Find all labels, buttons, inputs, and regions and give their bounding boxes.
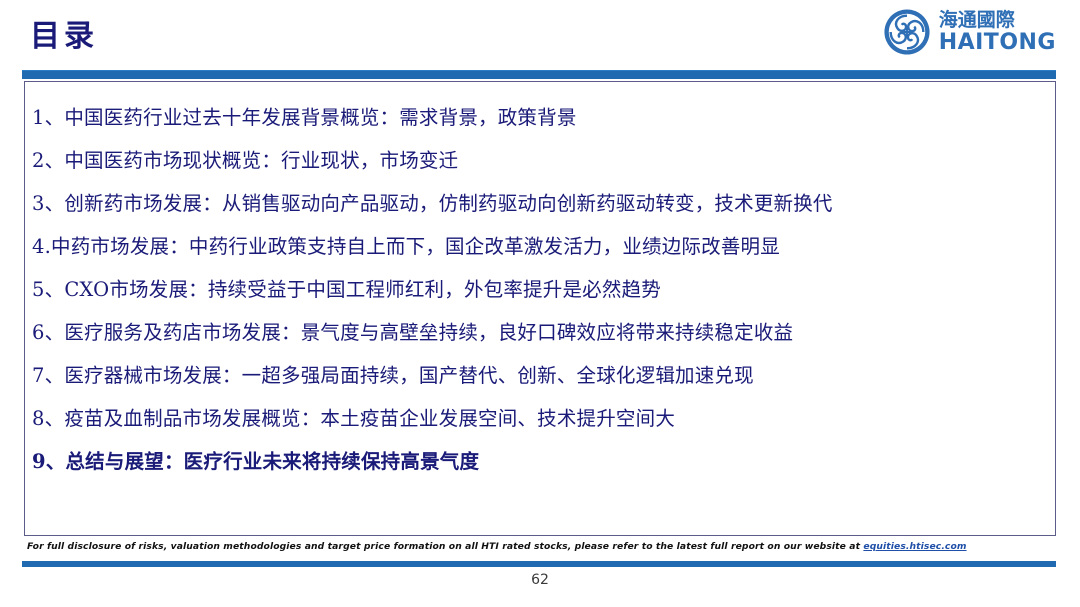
toc-item-9[interactable]: 9、总结与展望：医疗行业未来将持续保持高景气度 (32, 440, 1052, 483)
toc-item-2[interactable]: 2、中国医药市场现状概览：行业现状，市场变迁 (32, 139, 1052, 182)
toc-item-marker: 1、 (32, 106, 64, 129)
toc-item-marker: 3、 (32, 192, 64, 215)
logo-chinese-name: 海通國際 (939, 11, 1056, 30)
footer-accent-rule (22, 561, 1056, 567)
toc-item-3[interactable]: 3、创新药市场发展：从销售驱动向产品驱动，仿制药驱动向创新药驱动转变，技术更新换… (32, 182, 1052, 225)
toc-item-label: 疫苗及血制品市场发展概览：本土疫苗企业发展空间、技术提升空间大 (64, 407, 675, 430)
table-of-contents-list: 1、中国医药行业过去十年发展背景概览：需求背景，政策背景2、中国医药市场现状概览… (32, 96, 1052, 483)
disclosure-text: For full disclosure of risks, valuation … (27, 541, 863, 552)
logo-english-name: HAITONG (939, 32, 1056, 54)
page-title: 目录 (30, 22, 98, 52)
toc-item-4[interactable]: 4.中药市场发展：中药行业政策支持自上而下，国企改革激发活力，业绩边际改善明显 (32, 225, 1052, 268)
toc-item-label: 中国医药行业过去十年发展背景概览：需求背景，政策背景 (64, 106, 576, 129)
page-number: 62 (0, 572, 1080, 588)
toc-item-marker: 8、 (32, 407, 64, 430)
toc-item-marker: 7、 (32, 364, 64, 387)
haitong-logo: 海通國際 HAITONG (883, 6, 1056, 58)
toc-item-marker: 2、 (32, 149, 64, 172)
title-accent-rule (22, 70, 1056, 79)
toc-item-label: 医疗器械市场发展：一超多强局面持续，国产替代、创新、全球化逻辑加速兑现 (64, 364, 754, 387)
toc-item-8[interactable]: 8、疫苗及血制品市场发展概览：本土疫苗企业发展空间、技术提升空间大 (32, 397, 1052, 440)
presentation-slide: 目录 海通國際 HAITONG (0, 0, 1080, 607)
toc-item-6[interactable]: 6、医疗服务及药店市场发展：景气度与高壁垒持续，良好口碑效应将带来持续稳定收益 (32, 311, 1052, 354)
toc-item-label: 中国医药市场现状概览：行业现状，市场变迁 (64, 149, 458, 172)
haitong-circular-emblem-icon (883, 8, 931, 56)
toc-item-label: 总结与展望：医疗行业未来将持续保持高景气度 (65, 450, 479, 473)
toc-item-label: 创新药市场发展：从销售驱动向产品驱动，仿制药驱动向创新药驱动转变，技术更新换代 (64, 192, 832, 215)
toc-item-label: 中药市场发展：中药行业政策支持自上而下，国企改革激发活力，业绩边际改善明显 (51, 235, 780, 258)
logo-wordmark: 海通國際 HAITONG (939, 11, 1056, 54)
disclosure-footer: For full disclosure of risks, valuation … (27, 541, 1047, 552)
toc-item-marker: 4. (32, 235, 51, 258)
toc-item-marker: 5、 (32, 278, 64, 301)
disclosure-link[interactable]: equities.htisec.com (863, 541, 966, 552)
toc-item-1[interactable]: 1、中国医药行业过去十年发展背景概览：需求背景，政策背景 (32, 96, 1052, 139)
toc-item-5[interactable]: 5、CXO市场发展：持续受益于中国工程师红利，外包率提升是必然趋势 (32, 268, 1052, 311)
toc-item-7[interactable]: 7、医疗器械市场发展：一超多强局面持续，国产替代、创新、全球化逻辑加速兑现 (32, 354, 1052, 397)
toc-item-label: 医疗服务及药店市场发展：景气度与高壁垒持续，良好口碑效应将带来持续稳定收益 (64, 321, 793, 344)
toc-item-marker: 6、 (32, 321, 64, 344)
toc-item-marker: 9、 (32, 450, 65, 473)
toc-item-label: CXO市场发展：持续受益于中国工程师红利，外包率提升是必然趋势 (64, 278, 661, 301)
